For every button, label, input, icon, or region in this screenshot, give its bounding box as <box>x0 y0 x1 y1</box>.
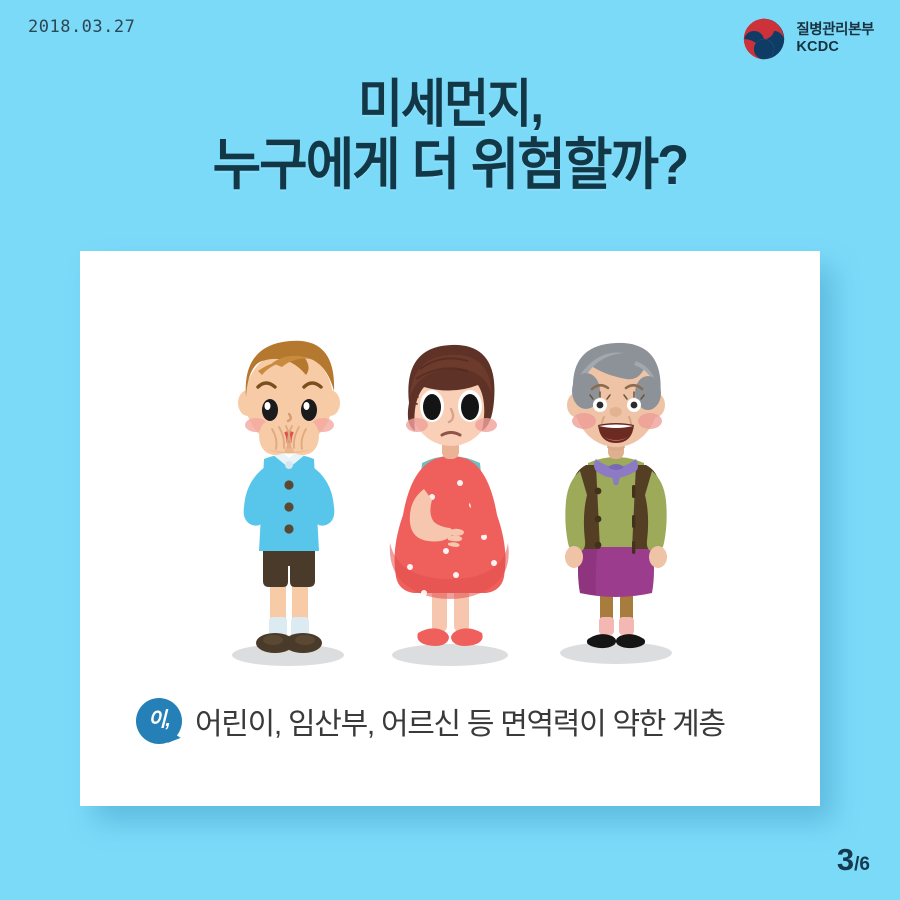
page-current: 3 <box>837 842 853 878</box>
page-indicator: 3 /6 <box>837 842 870 878</box>
title-line-1: 미세먼지, <box>27 78 873 133</box>
title-line-2: 누구에게 더 위험할까? <box>27 135 873 194</box>
brand-name-kr: 질병관리본부 <box>796 22 874 39</box>
caption-badge-label: 이, <box>148 710 170 730</box>
figure-pregnant-woman <box>390 345 509 646</box>
taeguk-icon <box>741 16 787 62</box>
card-news-slide: 2018.03.27 질병관리본부 KCDC 미세먼지, 누구에게 더 위험할까… <box>0 0 900 900</box>
kcdc-brand-logo: 질병관리본부 KCDC <box>741 16 874 62</box>
elder-ground-shadow <box>560 642 672 664</box>
page-total: /6 <box>854 854 870 876</box>
illustration-scene <box>80 251 820 681</box>
figure-child-boy <box>238 341 340 653</box>
page-title: 미세먼지, 누구에게 더 위험할까? <box>27 78 873 194</box>
caption-text: 어린이, 임산부, 어르신 등 면역력이 약한 계층 <box>195 699 725 743</box>
brand-name-en: KCDC <box>796 39 874 56</box>
caption-badge-bubble: 이, <box>136 698 182 744</box>
figure-elderly-woman <box>565 343 667 648</box>
publish-date: 2018.03.27 <box>28 17 135 37</box>
content-card: 이, 어린이, 임산부, 어르신 등 면역력이 약한 계층 <box>80 251 820 806</box>
woman-ground-shadow <box>392 644 508 666</box>
caption-row: 이, 어린이, 임산부, 어르신 등 면역력이 약한 계층 <box>80 676 820 766</box>
